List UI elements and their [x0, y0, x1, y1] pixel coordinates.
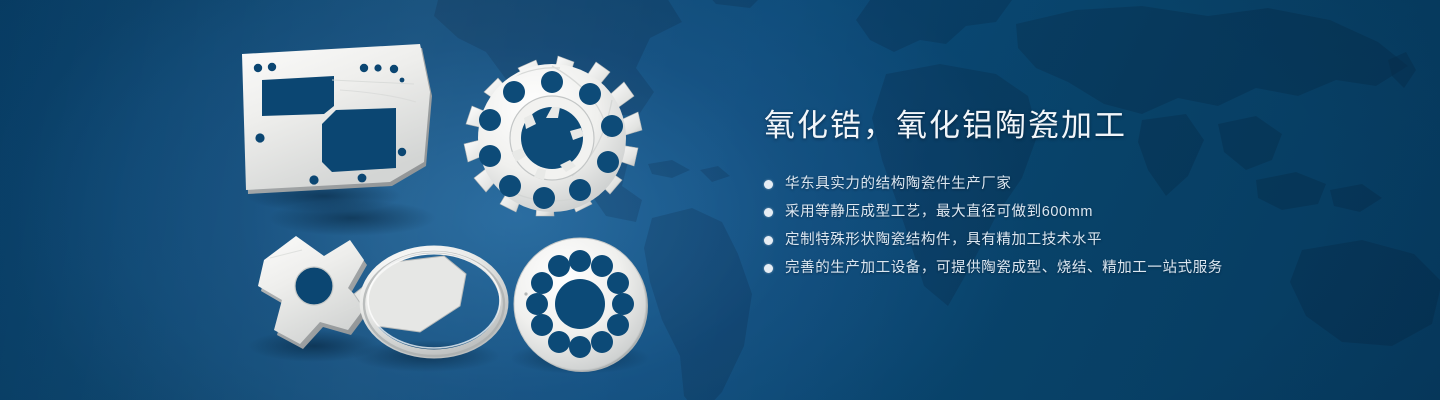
ceramic-mounting-plate	[242, 44, 432, 194]
feature-text: 完善的生产加工设备，可提供陶瓷成型、烧结、精加工一站式服务	[785, 256, 1223, 281]
feature-list: 华东具实力的结构陶瓷件生产厂家 采用等静压成型工艺，最大直径可做到600mm 定…	[764, 172, 1384, 281]
ceramic-valve-plate	[514, 238, 648, 372]
list-item: 采用等静压成型工艺，最大直径可做到600mm	[764, 200, 1384, 225]
ceramic-impeller-disc	[464, 56, 642, 216]
ceramic-cross-vane	[258, 236, 369, 349]
list-item: 完善的生产加工设备，可提供陶瓷成型、烧结、精加工一站式服务	[764, 256, 1384, 281]
bullet-circle-icon	[764, 264, 773, 273]
list-item: 定制特殊形状陶瓷结构件，具有精加工技术水平	[764, 228, 1384, 253]
bullet-circle-icon	[764, 180, 773, 189]
hero-banner: 氧化锆，氧化铝陶瓷加工 华东具实力的结构陶瓷件生产厂家 采用等静压成型工艺，最大…	[0, 0, 1440, 400]
bullet-circle-icon	[764, 208, 773, 217]
bullet-circle-icon	[764, 236, 773, 245]
feature-text: 华东具实力的结构陶瓷件生产厂家	[785, 172, 1012, 197]
feature-text: 采用等静压成型工艺，最大直径可做到600mm	[785, 200, 1093, 225]
list-item: 华东具实力的结构陶瓷件生产厂家	[764, 172, 1384, 197]
page-title: 氧化锆，氧化铝陶瓷加工	[764, 106, 1384, 146]
ceramic-products-image	[236, 44, 696, 374]
feature-text: 定制特殊形状陶瓷结构件，具有精加工技术水平	[785, 228, 1102, 253]
banner-copy: 氧化锆，氧化铝陶瓷加工 华东具实力的结构陶瓷件生产厂家 采用等静压成型工艺，最大…	[764, 106, 1384, 284]
